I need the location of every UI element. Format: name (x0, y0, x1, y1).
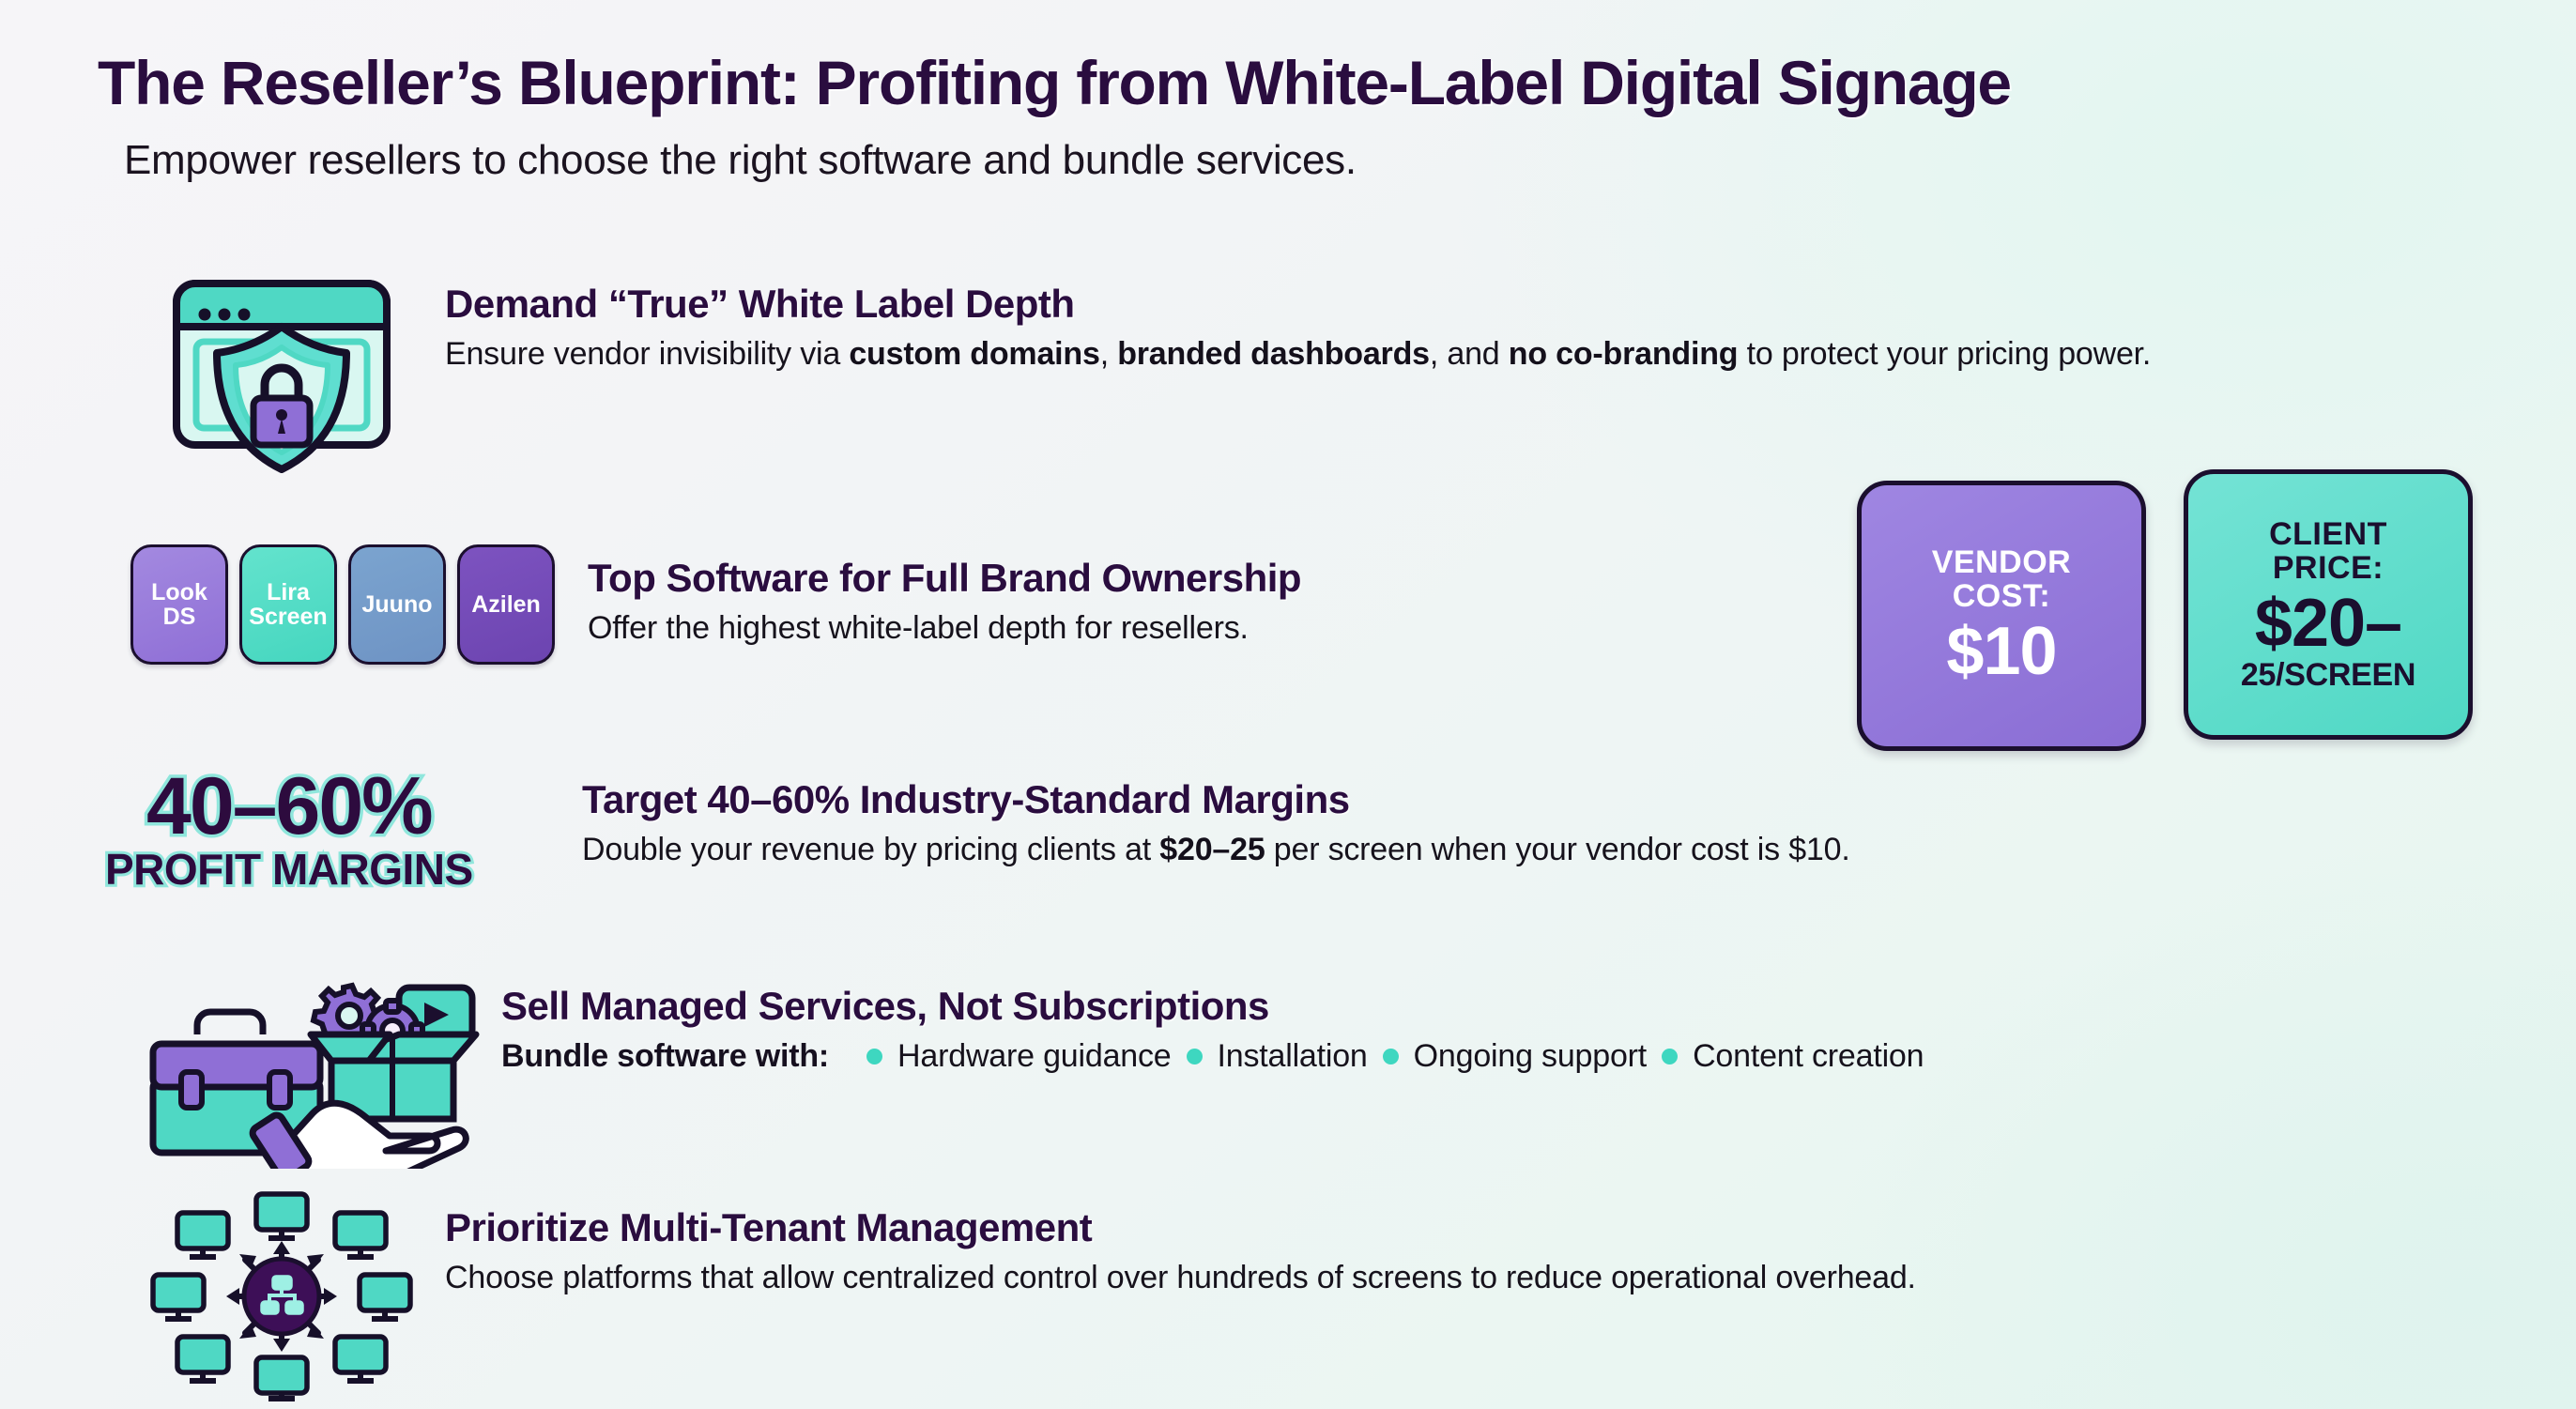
chip-line-2: DS (163, 604, 196, 630)
client-label-line-2: PRICE: (2273, 551, 2384, 586)
row-2-text: Top Software for Full Brand Ownership Of… (563, 544, 1793, 650)
body-text-bold: no co-branding (1509, 336, 1739, 372)
bundle-services-list: Bundle software with: Hardware guidance … (501, 1038, 2525, 1075)
row-managed-services: Sell Managed Services, Not Subscriptions… (122, 967, 2525, 1169)
brand-chip-juuno[interactable]: Juuno (348, 544, 446, 665)
brand-chip-list: Look DS Lira Screen Juuno Azilen (130, 544, 555, 665)
brand-chip-lira-screen[interactable]: Lira Screen (239, 544, 337, 665)
toolbox-gears-box-hand-icon (122, 967, 488, 1169)
bullet-dot-icon (866, 1049, 882, 1064)
row-1-text: Demand “True” White Label Depth Ensure v… (422, 268, 2488, 375)
row-5-text: Prioritize Multi-Tenant Management Choos… (422, 1190, 2544, 1299)
body-text-plain: per screen when your vendor cost is $10. (1265, 832, 1850, 867)
row-white-label-depth: Demand “True” White Label Depth Ensure v… (141, 268, 2488, 484)
row-multi-tenant: Prioritize Multi-Tenant Management Choos… (141, 1190, 2544, 1402)
price-card-group: VENDOR COST: $10 CLIENT PRICE: $20– 25/S… (1857, 481, 2473, 751)
body-text-plain: Ensure vendor invisibility via (445, 336, 849, 372)
vendor-cost-value: $10 (1946, 618, 2056, 686)
chip-line-1: Look (151, 579, 207, 605)
vendor-cost-card: VENDOR COST: $10 (1857, 481, 2146, 751)
bullet-dot-icon (1383, 1049, 1399, 1064)
vendor-label-line-2: COST: (1953, 579, 2051, 614)
row-1-heading: Demand “True” White Label Depth (445, 282, 2488, 327)
body-text-plain: Double your revenue by pricing clients a… (582, 832, 1159, 867)
body-text-plain: , (1100, 336, 1118, 372)
bullet-dot-icon (1187, 1049, 1203, 1064)
body-text-bold: $20–25 (1159, 832, 1265, 867)
row-1-body: Ensure vendor invisibility via custom do… (445, 334, 2488, 375)
row-5-heading: Prioritize Multi-Tenant Management (445, 1205, 2544, 1250)
row-2-body: Offer the highest white-label depth for … (588, 608, 1793, 650)
page-subtitle: Empower resellers to choose the right so… (124, 137, 2501, 184)
vendor-label-line-1: VENDOR (1932, 545, 2071, 580)
infographic-page: The Reseller’s Blueprint: Profiting from… (0, 0, 2576, 1409)
row-3-heading: Target 40–60% Industry-Standard Margins (582, 777, 2516, 822)
margin-badge-label: PROFIT MARGINS (105, 848, 473, 891)
client-label-line-1: CLIENT (2269, 517, 2387, 552)
header: The Reseller’s Blueprint: Profiting from… (98, 51, 2501, 184)
bundle-item-hardware-guidance: Hardware guidance (897, 1038, 1171, 1075)
row-3-text: Target 40–60% Industry-Standard Margins … (582, 777, 2516, 871)
body-text-bold: custom domains (849, 336, 1099, 372)
row-4-heading: Sell Managed Services, Not Subscriptions (501, 984, 2525, 1029)
brand-chips-icon: Look DS Lira Screen Juuno Azilen (122, 544, 563, 665)
row-4-text: Sell Managed Services, Not Subscriptions… (488, 967, 2525, 1075)
brand-chip-azilen[interactable]: Azilen (457, 544, 555, 665)
chip-line-1: Juuno (362, 592, 433, 617)
bundle-item-ongoing-support: Ongoing support (1414, 1038, 1647, 1075)
bundle-item-installation: Installation (1218, 1038, 1368, 1075)
body-text-plain: to protect your pricing power. (1738, 336, 2151, 372)
row-5-body: Choose platforms that allow centralized … (445, 1258, 2544, 1299)
body-text-bold: branded dashboards (1117, 336, 1430, 372)
client-price-value: $20– (2255, 590, 2401, 658)
multi-tenant-network-icon (141, 1190, 422, 1402)
profit-margin-badge: 40–60% PROFIT MARGINS (105, 768, 473, 891)
chip-line-2: Screen (249, 604, 327, 630)
browser-shield-lock-icon (141, 268, 422, 484)
margin-badge-value: 40–60% (105, 768, 473, 846)
client-price-sub: 25/SCREEN (2241, 659, 2415, 693)
bundle-lead-label: Bundle software with: (501, 1038, 829, 1075)
row-3-body: Double your revenue by pricing clients a… (582, 830, 2516, 871)
row-2-heading: Top Software for Full Brand Ownership (588, 556, 1793, 601)
chip-line-1: Azilen (471, 592, 541, 617)
chip-line-1: Lira (267, 579, 310, 605)
body-text-plain: , and (1430, 336, 1509, 372)
row-top-software: Look DS Lira Screen Juuno Azilen (122, 544, 1793, 665)
row-target-margins: Target 40–60% Industry-Standard Margins … (582, 777, 2516, 871)
bundle-item-content-creation: Content creation (1693, 1038, 1924, 1075)
client-price-card: CLIENT PRICE: $20– 25/SCREEN (2184, 469, 2473, 740)
page-title: The Reseller’s Blueprint: Profiting from… (98, 51, 2501, 116)
brand-chip-look-ds[interactable]: Look DS (130, 544, 228, 665)
bullet-dot-icon (1662, 1049, 1678, 1064)
